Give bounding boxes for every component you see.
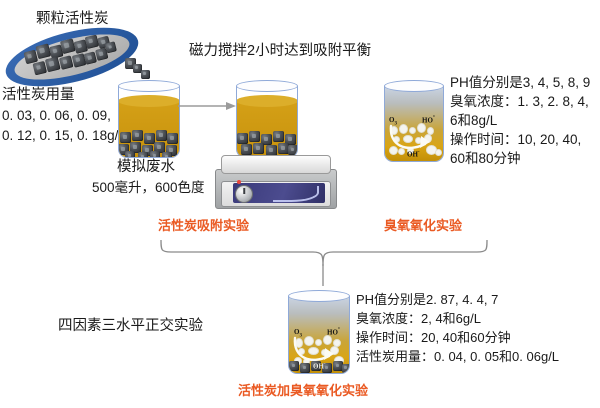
beaker-adsorption — [118, 80, 180, 158]
carbon-dosage-line1: 0. 03, 0. 06, 0. 09, — [2, 107, 111, 125]
beaker-rim — [118, 80, 180, 92]
diagram-canvas: 颗粒活性炭 活性炭用量 0. 03, 0. 06, 0. 09, 0. 12, … — [0, 0, 600, 408]
magnetic-stirrer[interactable] — [215, 155, 335, 210]
combined-params-line2: 臭氧浓度：2, 4和6g/L — [356, 310, 481, 327]
wastewater-label-line2: 500毫升，600色度 — [92, 179, 205, 197]
beaker-body: O3 HO° OH- — [288, 296, 350, 374]
stirrer-speed-knob[interactable] — [235, 185, 253, 203]
ozone-params-line5: 60和80分钟 — [450, 150, 521, 168]
label-hydroxide: OH- — [313, 362, 326, 370]
label-ozone: O3 — [389, 116, 397, 126]
label-hydroxide: OH- — [407, 150, 420, 158]
stirrer-power-led — [237, 180, 241, 184]
ozone-params-line2: 臭氧浓度：1. 3, 2. 8, 4, — [450, 93, 589, 111]
label-combined-experiment: 活性炭加臭氧氧化实验 — [238, 382, 368, 399]
ozone-params-line1: PH值分别是3, 4, 5, 8, 9 — [450, 74, 590, 92]
label-adsorption-experiment: 活性炭吸附实验 — [158, 217, 249, 234]
wastewater-label-line1: 模拟废水 — [117, 158, 175, 177]
label-ozone: O3 — [294, 328, 302, 338]
stirring-label: 磁力搅拌2小时达到吸附平衡 — [189, 42, 371, 61]
combined-params-line4: 活性炭用量：0. 04, 0. 05和0. 06g/L — [356, 348, 559, 365]
ozone-params-line4: 操作时间：10, 20, 40, — [450, 131, 581, 149]
beaker-rim — [288, 290, 350, 302]
beaker-body — [118, 86, 180, 158]
stirrer-brand-swoosh — [273, 186, 319, 202]
falling-carbon-granule — [141, 70, 150, 79]
label-ozonation-experiment: 臭氧氧化实验 — [384, 217, 462, 234]
label-hydroxyl-radical: HO° — [327, 328, 340, 336]
beaker-rim — [384, 80, 444, 92]
carbon-dosage-heading: 活性炭用量 — [2, 86, 75, 105]
stirrer-hotplate — [221, 155, 331, 174]
carbon-bed — [119, 129, 179, 157]
beaker-on-stirrer — [236, 80, 298, 158]
label-hydroxyl-radical: HO° — [422, 116, 435, 124]
beaker-ozonation: O3 HO° OH- — [384, 80, 444, 162]
liquid-surface — [236, 95, 298, 107]
combined-params-line3: 操作时间：20, 40和60分钟 — [356, 329, 511, 346]
flow-arrow-right — [178, 98, 238, 114]
orthogonal-experiment-label: 四因素三水平正交实验 — [58, 317, 203, 336]
carbon-bed — [237, 131, 297, 157]
beaker-body — [236, 86, 298, 158]
beaker-body: O3 HO° OH- — [384, 86, 444, 162]
ozone-params-line3: 6和8g/L — [450, 112, 497, 130]
liquid-surface — [118, 95, 180, 107]
beaker-combined: O3 HO° OH- — [288, 290, 350, 374]
combined-params-line1: PH值分别是2. 87, 4. 4, 7 — [356, 291, 498, 308]
beaker-rim — [236, 80, 298, 92]
carbon-dosage-line2: 0. 12, 0. 15, 0. 18g/L — [2, 127, 126, 145]
